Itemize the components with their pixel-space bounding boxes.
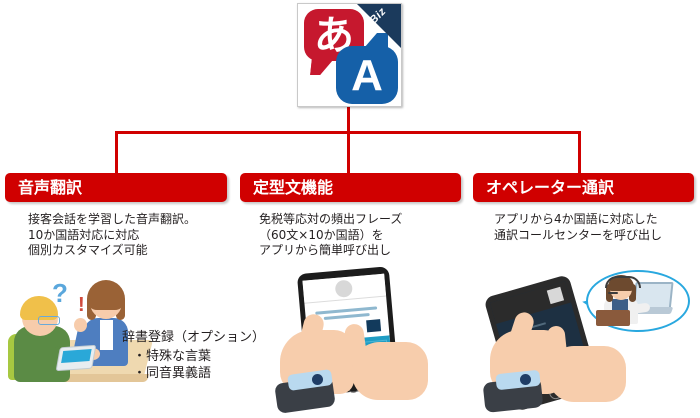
operator-speech-bubble — [586, 270, 690, 332]
hands-holding-tablet-illustration — [276, 268, 436, 418]
screen-text-line-shape — [324, 313, 370, 320]
dictionary-option-items: ・特殊な言葉 ・同音異義語 — [133, 348, 211, 382]
latin-bubble-label: A — [336, 51, 398, 101]
tablet-screen-shape — [61, 349, 92, 363]
phone-call-operator-illustration — [490, 268, 695, 418]
connector-horizontal-bar — [115, 131, 581, 134]
panel-header-label: オペレーター通訳 — [473, 173, 694, 202]
glasses-icon — [38, 316, 60, 325]
app-icon: あ A Biz — [297, 3, 402, 107]
panel-body-voice-translation: 接客会話を学習した音声翻訳。 10か国語対応に対応 個別カスタマイズ可能 — [28, 212, 228, 259]
woman-hair-shape — [87, 280, 125, 310]
tablet-device-shape — [56, 345, 97, 371]
headset-icon — [605, 276, 641, 288]
connector-vertical-right — [578, 131, 581, 175]
connector-vertical-main — [347, 104, 350, 174]
panel-header-label: 音声翻訳 — [5, 173, 227, 202]
headset-mic-icon — [608, 292, 618, 294]
woman-hand-shape — [74, 318, 87, 332]
connector-vertical-left — [115, 131, 118, 175]
woman-shirt-shape — [100, 320, 113, 350]
panel-header-fixed-phrase[interactable]: 定型文機能 — [240, 173, 461, 202]
panel-header-label: 定型文機能 — [240, 173, 461, 202]
diagram-canvas: あ A Biz 音声翻訳 接客会話を学習した音声翻訳。 10か国語対応に対応 個… — [0, 0, 700, 418]
wrist-watch-icon — [312, 374, 323, 385]
wrist-watch-icon — [520, 374, 531, 385]
latin-speech-bubble-icon: A — [336, 46, 398, 104]
screen-badge-shape — [366, 319, 381, 332]
panel-body-operator-interpretation: アプリから4か国語に対応した 通訳コールセンターを呼び出し — [494, 212, 694, 243]
desk-shape — [596, 310, 630, 326]
panel-header-voice-translation[interactable]: 音声翻訳 — [5, 173, 227, 202]
question-mark-icon: ? — [52, 278, 68, 309]
panel-header-operator-interpretation[interactable]: オペレーター通訳 — [473, 173, 694, 202]
exclamation-mark-icon: ! — [78, 294, 85, 317]
dictionary-option-title: 辞書登録（オプション） — [122, 330, 265, 346]
panel-body-fixed-phrase: 免税等応対の頻出フレーズ （60文×10か国語）を アプリから簡単呼び出し — [259, 212, 459, 259]
